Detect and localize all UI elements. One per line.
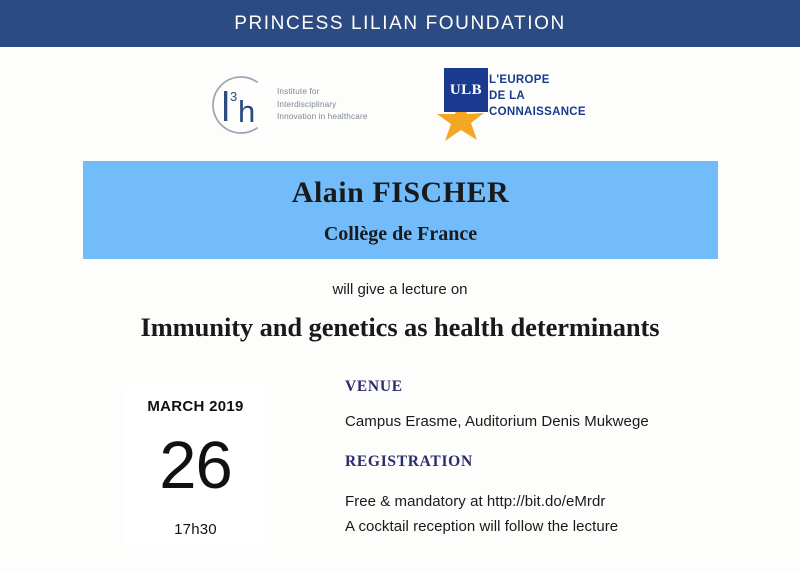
speaker-banner: Alain FISCHER Collège de France [83, 161, 718, 259]
date-month-year: MARCH 2019 [147, 398, 243, 415]
ulb-logo: ULB L'EUROPE DE LA CONNAISSANCE [437, 68, 617, 142]
lecture-intro-text: will give a lecture on [0, 281, 800, 298]
registration-link-line[interactable]: Free & mandatory at http://bit.do/eMrdr [345, 493, 745, 510]
i3h-logo: 3 h Institute for Interdisciplinary Inno… [205, 66, 385, 144]
ulb-logo-mark-icon: ULB [437, 68, 497, 136]
registration-heading: REGISTRATION [345, 453, 745, 471]
ulb-logo-square-label: ULB [450, 82, 482, 99]
date-day: 26 [159, 427, 232, 505]
ulb-logo-line-2: DE LA [489, 88, 586, 104]
info-column: VENUE Campus Erasme, Auditorium Denis Mu… [345, 378, 745, 535]
registration-note-line: A cocktail reception will follow the lec… [345, 518, 745, 535]
venue-value: Campus Erasme, Auditorium Denis Mukwege [345, 413, 745, 430]
i3h-logo-text: Institute for Interdisciplinary Innovati… [277, 86, 368, 124]
ulb-logo-text: L'EUROPE DE LA CONNAISSANCE [489, 72, 586, 120]
ulb-logo-square: ULB [444, 68, 488, 112]
svg-text:3: 3 [230, 89, 237, 104]
ulb-logo-line-3: CONNAISSANCE [489, 104, 586, 120]
header-banner: PRINCESS LILIAN FOUNDATION [0, 0, 800, 47]
date-box: MARCH 2019 26 17h30 [126, 385, 265, 545]
i3h-logo-mark-icon: 3 h [205, 70, 271, 140]
i3h-logo-line-3: Innovation in healthcare [277, 111, 368, 124]
logo-row: 3 h Institute for Interdisciplinary Inno… [0, 60, 800, 148]
svg-text:h: h [238, 94, 255, 129]
venue-heading: VENUE [345, 378, 745, 396]
i3h-logo-line-1: Institute for [277, 86, 368, 99]
page-title: PRINCESS LILIAN FOUNDATION [234, 13, 566, 35]
lecture-title: Immunity and genetics as health determin… [0, 312, 800, 343]
i3h-logo-line-2: Interdisciplinary [277, 99, 368, 112]
speaker-affiliation: Collège de France [324, 223, 477, 246]
date-time: 17h30 [174, 521, 217, 538]
speaker-name: Alain FISCHER [292, 176, 509, 210]
ulb-logo-line-1: L'EUROPE [489, 72, 586, 88]
